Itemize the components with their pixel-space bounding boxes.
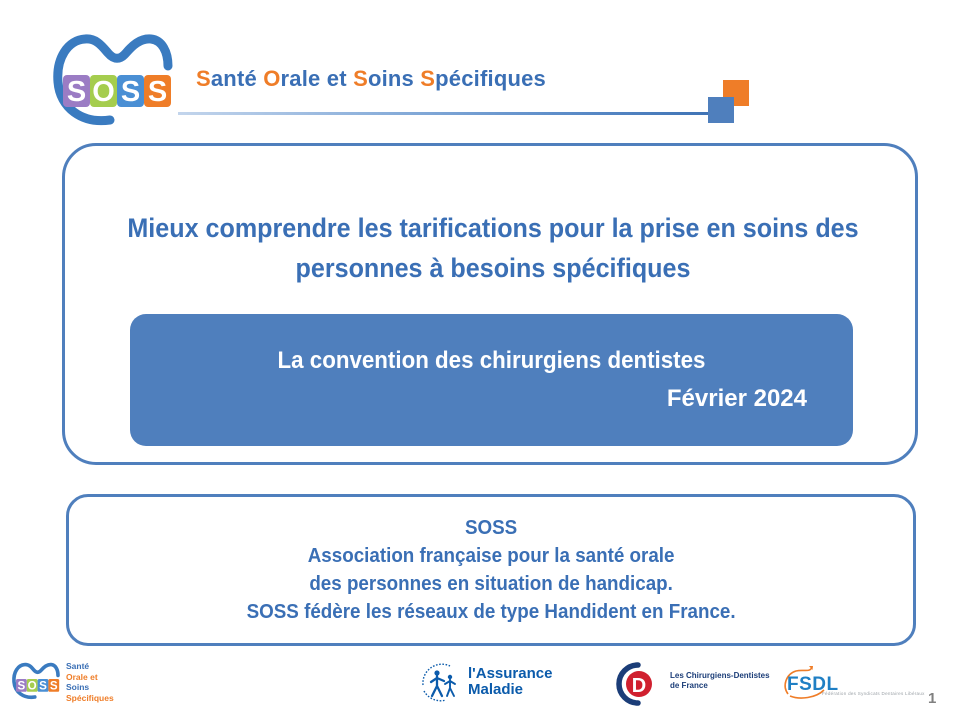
cdf-wordmark: Les Chirurgiens-Dentistes de France [670,671,770,691]
subtitle-panel-line-2: Février 2024 [130,384,853,414]
svg-text:S: S [18,679,26,692]
soss-footer-line-1: Santé [66,661,114,672]
header-title-cap-4: S [420,66,435,91]
soss-footer-logo-graphic: S O S S [10,659,62,703]
svg-text:S: S [67,76,86,108]
soss-footer-line-2: Orale et [66,672,114,683]
svg-text:O: O [28,679,37,692]
association-line-2: Association française pour la santé oral… [246,542,735,570]
fsdl-wordmark-icon: FSDL [778,664,896,702]
svg-text:D: D [632,675,646,697]
subtitle-panel-line-1: La convention des chirurgiens dentistes [155,346,827,376]
fsdl-subtitle: Fédération des Syndicats Dentaires Libér… [822,691,925,696]
fsdl-logo: FSDL Fédération des Syndicats Dentaires … [778,664,898,704]
assurance-maladie-figures-icon [420,663,464,703]
svg-text:O: O [92,76,115,108]
header-title-cap-2: O [263,66,280,91]
association-line-3: des personnes en situation de handicap. [246,570,735,598]
header-title-cap-3: S [353,66,368,91]
header-title-rest-3: oins [368,66,420,91]
assurance-maladie-wordmark: l'Assurance Maladie [468,666,552,698]
cdf-line-1: Les Chirurgiens-Dentistes [670,671,770,681]
header-title-cap-1: S [196,66,211,91]
slide-footer: S O S S Santé Orale et Soins Spécifiques… [0,655,960,720]
cdf-monogram-icon: D [608,661,666,707]
svg-text:S: S [148,76,167,108]
association-line-4: SOSS fédère les réseaux de type Handiden… [246,598,735,626]
svg-text:S: S [121,76,140,108]
main-content-box: Mieux comprendre les tarifications pour … [62,143,918,465]
header-title-rest-4: pécifiques [435,66,546,91]
soss-footer-logo: S O S S Santé Orale et Soins Spécifiques [10,659,200,707]
association-description-box: SOSS Association française pour la santé… [66,494,916,646]
main-heading: Mieux comprendre les tarifications pour … [119,208,867,288]
header-divider-line [178,112,710,115]
assurance-maladie-line-1: l'Assurance [468,666,552,682]
soss-footer-tagline: Santé Orale et Soins Spécifiques [66,661,114,703]
soss-letter-squares: S O S S [63,75,171,108]
svg-text:S: S [50,679,58,692]
decorative-blue-square [708,97,734,123]
association-description-text: SOSS Association française pour la santé… [246,514,735,626]
slide-header: S O S S Santé Orale et Soins Spécifiques [0,0,960,140]
header-title-rest-1: anté [211,66,263,91]
cdf-line-2: de France [670,681,770,691]
soss-logo: S O S S [48,32,178,128]
header-title-rest-2: rale et [281,66,354,91]
assurance-maladie-line-2: Maladie [468,682,552,698]
association-line-1: SOSS [246,514,735,542]
svg-text:S: S [39,679,47,692]
soss-logo-graphic: S O S S [48,32,178,128]
header-title: Santé Orale et Soins Spécifiques [196,66,546,92]
subtitle-panel: La convention des chirurgiens dentistes … [130,314,853,446]
assurance-maladie-logo: l'Assurance Maladie [420,663,580,705]
soss-footer-line-3: Soins [66,682,114,693]
soss-footer-line-4: Spécifiques [66,693,114,704]
chirurgiens-dentistes-de-france-logo: D Les Chirurgiens-Dentistes de France [608,661,778,707]
page-number: 1 [928,690,936,707]
